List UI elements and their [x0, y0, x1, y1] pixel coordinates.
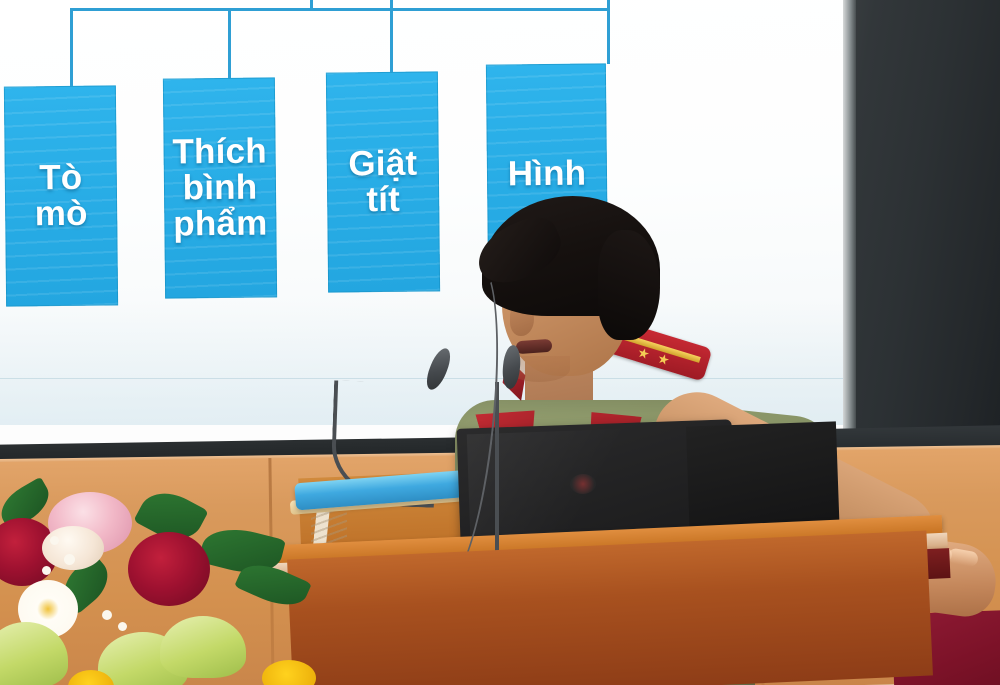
babys-breath [102, 610, 112, 620]
node-to-mo-label: Tò mò [34, 160, 88, 232]
mouth [516, 339, 553, 354]
anthurium [160, 616, 246, 678]
node-thich-binh-pham: Thích bình phẩm [163, 77, 277, 298]
connector-drop-2 [228, 8, 231, 78]
photo-scene: người xem hơn Tò mò Thích bình phẩm Giật… [0, 0, 1000, 685]
yellow-daisy [262, 660, 316, 685]
red-rose [128, 532, 210, 606]
babys-breath [64, 554, 75, 565]
connector-drop-4 [607, 0, 610, 64]
floral-arrangement [0, 470, 320, 685]
node-thich-binh-pham-label: Thích bình phẩm [172, 134, 267, 242]
babys-breath [118, 622, 127, 631]
connector-drop-3 [390, 0, 393, 72]
node-giat-tit: Giật tít [326, 71, 440, 292]
hair-side [598, 230, 660, 340]
node-giat-tit-label: Giật tít [348, 146, 418, 218]
node-to-mo: Tò mò [4, 85, 118, 306]
babys-breath [42, 566, 51, 575]
connector-drop-1 [70, 8, 73, 86]
babys-breath [50, 536, 59, 545]
connector-bus [70, 8, 610, 11]
